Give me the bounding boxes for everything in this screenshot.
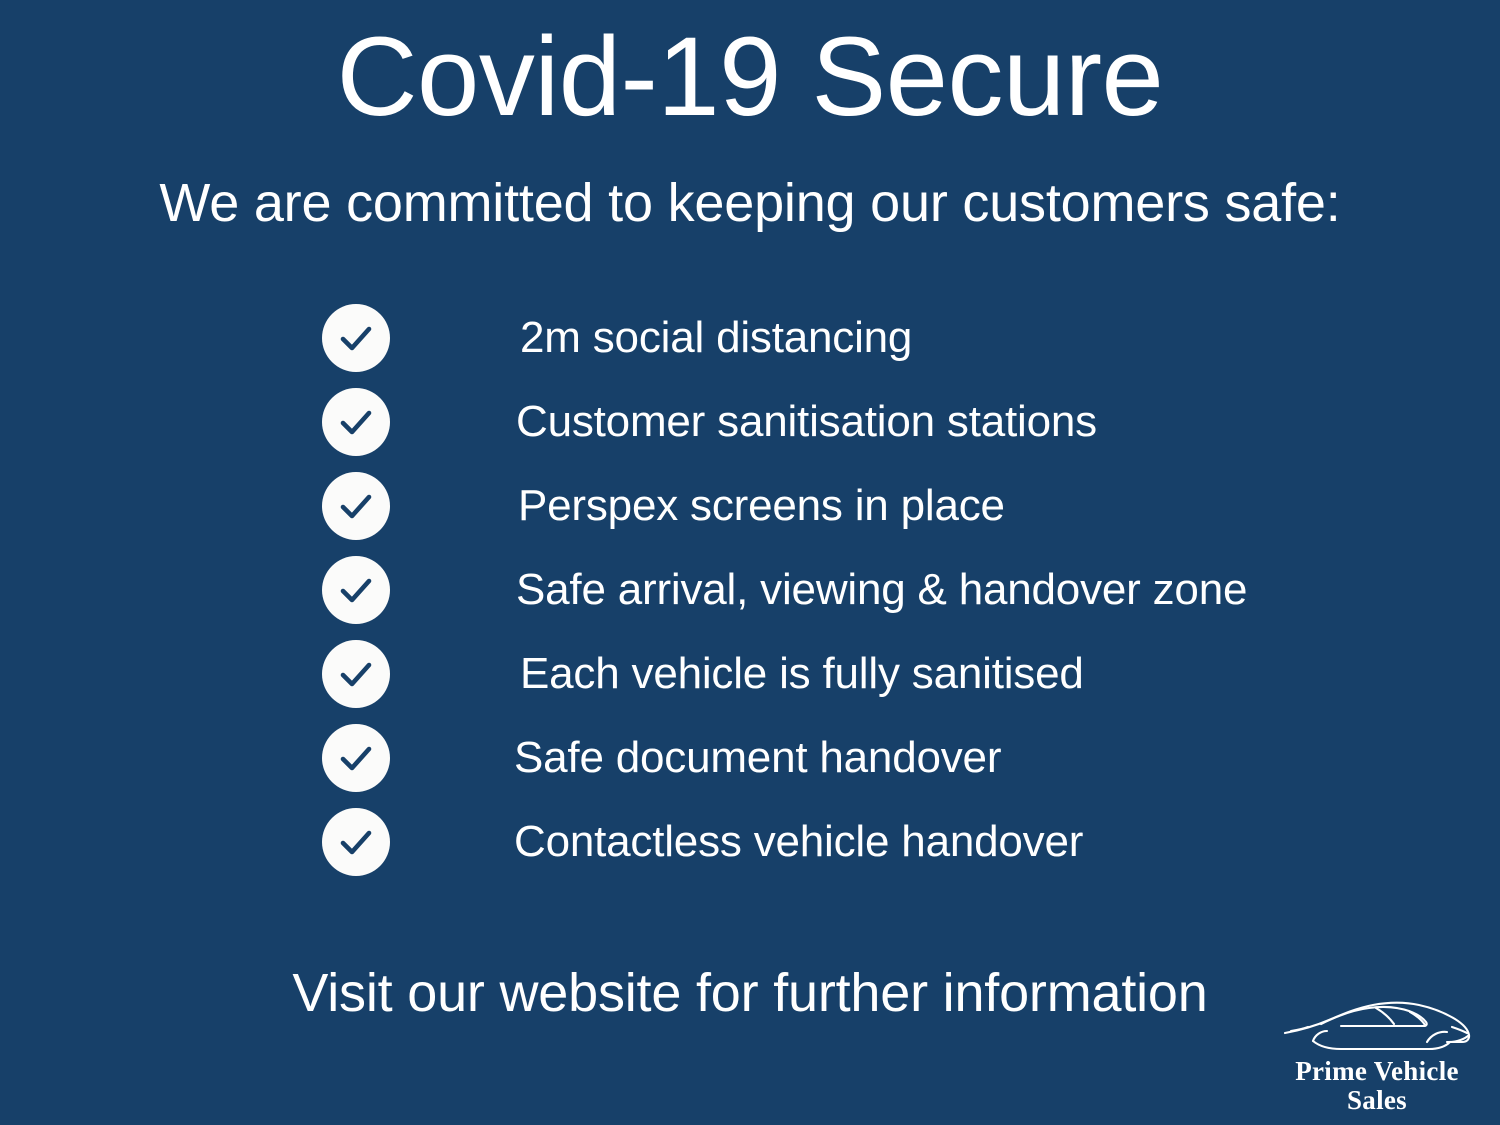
list-item: Each vehicle is fully sanitised bbox=[322, 632, 1322, 716]
list-item: 2m social distancing bbox=[322, 296, 1322, 380]
list-item: Customer sanitisation stations bbox=[322, 380, 1322, 464]
car-silhouette-icon bbox=[1279, 997, 1475, 1055]
check-icon bbox=[322, 808, 390, 876]
check-icon bbox=[322, 388, 390, 456]
list-item: Safe arrival, viewing & handover zone bbox=[322, 548, 1322, 632]
logo-line-1: Prime Vehicle bbox=[1295, 1056, 1459, 1086]
logo-line-2: Sales bbox=[1272, 1086, 1482, 1115]
logo-wordmark: Prime Vehicle Sales bbox=[1272, 1057, 1482, 1115]
page-title: Covid-19 Secure bbox=[0, 18, 1500, 136]
list-item: Safe document handover bbox=[322, 716, 1322, 800]
check-icon bbox=[322, 556, 390, 624]
safety-measures-list: 2m social distancing Customer sanitisati… bbox=[322, 296, 1322, 884]
list-item-label: Customer sanitisation stations bbox=[516, 397, 1097, 447]
list-item-label: Each vehicle is fully sanitised bbox=[520, 649, 1084, 699]
list-item: Contactless vehicle handover bbox=[322, 800, 1322, 884]
list-item-label: Perspex screens in place bbox=[518, 481, 1005, 531]
list-item-label: Safe arrival, viewing & handover zone bbox=[516, 565, 1247, 615]
list-item-label: Contactless vehicle handover bbox=[514, 817, 1083, 867]
page-subtitle: We are committed to keeping our customer… bbox=[0, 172, 1500, 234]
list-item-label: Safe document handover bbox=[514, 733, 1001, 783]
check-icon bbox=[322, 472, 390, 540]
check-icon bbox=[322, 640, 390, 708]
check-icon bbox=[322, 724, 390, 792]
brand-logo: Prime Vehicle Sales bbox=[1272, 997, 1482, 1115]
covid-secure-poster: Covid-19 Secure We are committed to keep… bbox=[0, 0, 1500, 1125]
list-item: Perspex screens in place bbox=[322, 464, 1322, 548]
list-item-label: 2m social distancing bbox=[520, 313, 912, 363]
check-icon bbox=[322, 304, 390, 372]
